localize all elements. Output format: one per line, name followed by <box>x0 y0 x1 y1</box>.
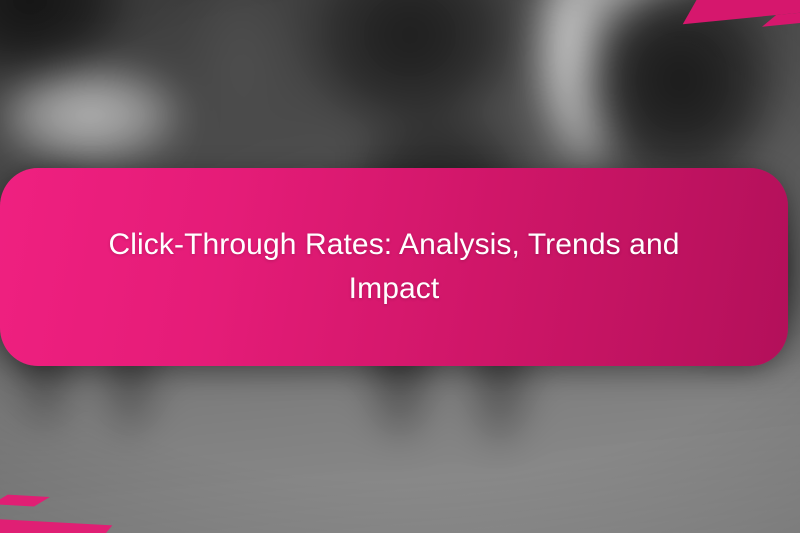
page-title: Click-Through Rates: Analysis, Trends an… <box>94 223 694 312</box>
title-banner: Click-Through Rates: Analysis, Trends an… <box>0 168 788 366</box>
title-card: Click-Through Rates: Analysis, Trends an… <box>0 0 800 533</box>
